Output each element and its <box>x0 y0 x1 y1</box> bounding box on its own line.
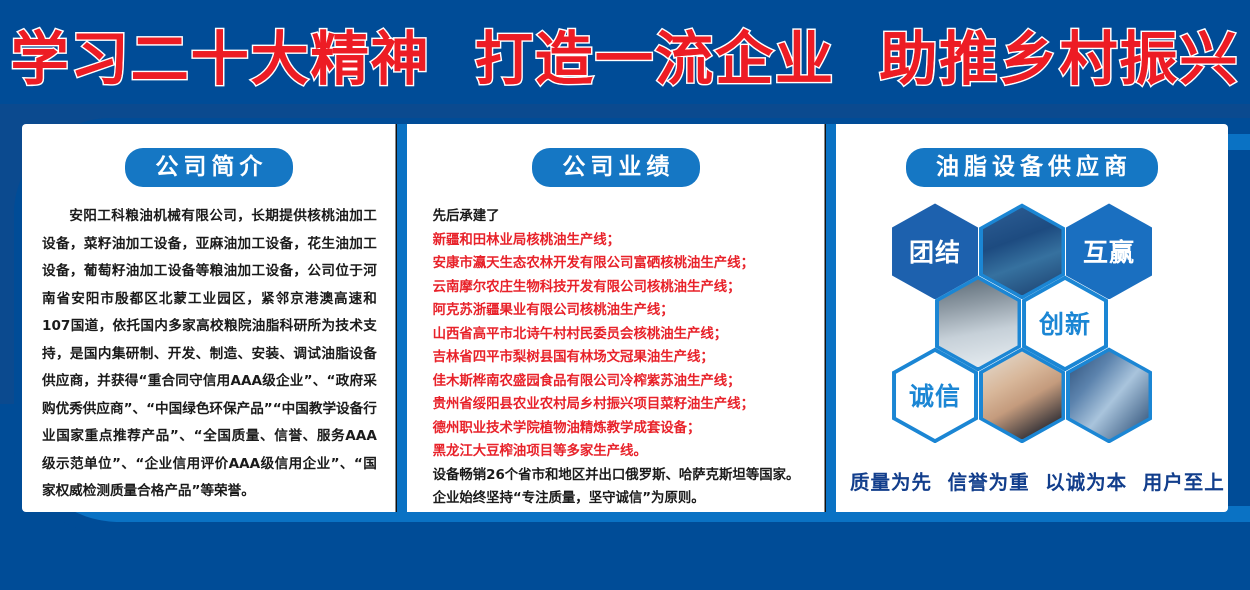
performance-project-line: 新疆和田林业局核桃油生产线； <box>433 229 807 253</box>
handshake-photo-icon <box>983 351 1062 439</box>
company-profile-body: 安阳工科粮油机械有限公司，长期提供核桃油加工设备，菜籽油加工设备，亚麻油加工设备… <box>42 203 377 506</box>
performance-closing-line: 企业始终坚持“专注质量，坚守诚信”为原则。 <box>433 487 807 511</box>
performance-project-line: 山西省高平市北诗午村村民委员会核桃油生产线； <box>433 323 807 347</box>
aircraft-carrier-photo-icon <box>983 207 1062 295</box>
hexagon-label: 团结 <box>909 233 961 269</box>
page-title: 学习二十大精神 打造一流企业 助推乡村振兴 <box>11 12 1240 96</box>
panel-supplier: 油脂设备供应商 团结互赢创新诚信 质量为先 信誉为重 以诚为本 用户至上 <box>836 124 1228 512</box>
content-board: 公司简介 安阳工科粮油机械有限公司，长期提供核桃油加工设备，菜籽油加工设备，亚麻… <box>22 124 1228 512</box>
panel-company-profile: 公司简介 安阳工科粮油机械有限公司，长期提供核桃油加工设备，菜籽油加工设备，亚麻… <box>22 124 397 512</box>
panel-heading-company-performance: 公司业绩 <box>532 148 700 187</box>
hexagon-inner: 创新 <box>1026 280 1104 367</box>
performance-project-line: 吉林省四平市梨树县国有林场文冠果油生产线； <box>433 346 807 370</box>
performance-project-line: 黑龙江大豆榨油项目等多家生产线。 <box>433 440 807 464</box>
panel-heading-company-profile: 公司简介 <box>125 148 293 187</box>
performance-closing-lines: 设备畅销26个省市和地区并出口俄罗斯、哈萨克斯坦等国家。企业始终坚持“专注质量，… <box>433 464 807 511</box>
hexagon-label: 诚信 <box>909 377 961 413</box>
hexagon-cluster: 团结互赢创新诚信 <box>850 197 1242 452</box>
header-banner: 学习二十大精神 打造一流企业 助推乡村振兴 <box>0 0 1250 108</box>
performance-project-list: 新疆和田林业局核桃油生产线；安康市瀛天生态农林开发有限公司富硒核桃油生产线；云南… <box>433 229 807 464</box>
company-performance-body: 先后承建了 新疆和田林业局核桃油生产线；安康市瀛天生态农林开发有限公司富硒核桃油… <box>433 205 807 511</box>
performance-closing-line: 设备畅销26个省市和地区并出口俄罗斯、哈萨克斯坦等国家。 <box>433 464 807 488</box>
performance-project-line: 阿克苏浙疆果业有限公司核桃油生产线； <box>433 299 807 323</box>
hexagon-label: 创新 <box>1039 305 1091 341</box>
panel-heading-supplier: 油脂设备供应商 <box>906 148 1158 187</box>
supplier-slogan: 质量为先 信誉为重 以诚为本 用户至上 <box>850 466 1214 495</box>
performance-project-line: 佳木斯桦南农盛园食品有限公司冷榨紫苏油生产线； <box>433 370 807 394</box>
skyscraper-photo-icon <box>1070 351 1149 439</box>
mountain-success-photo-icon <box>939 279 1018 367</box>
panel-divider-2 <box>826 124 836 512</box>
performance-project-line: 云南摩尔农庄生物科技开发有限公司核桃油生产线； <box>433 276 807 300</box>
panel-divider-1 <box>397 124 407 512</box>
performance-intro-line: 先后承建了 <box>433 205 807 229</box>
hexagon-label: 互赢 <box>1083 233 1135 269</box>
performance-project-line: 德州职业技术学院植物油精炼教学成套设备； <box>433 417 807 441</box>
performance-project-line: 安康市瀛天生态农林开发有限公司富硒核桃油生产线； <box>433 252 807 276</box>
hexagon-inner: 诚信 <box>896 352 974 439</box>
panel-company-performance: 公司业绩 先后承建了 新疆和田林业局核桃油生产线；安康市瀛天生态农林开发有限公司… <box>407 124 827 512</box>
performance-project-line: 贵州省绥阳县农业农村局乡村振兴项目菜籽油生产线； <box>433 393 807 417</box>
